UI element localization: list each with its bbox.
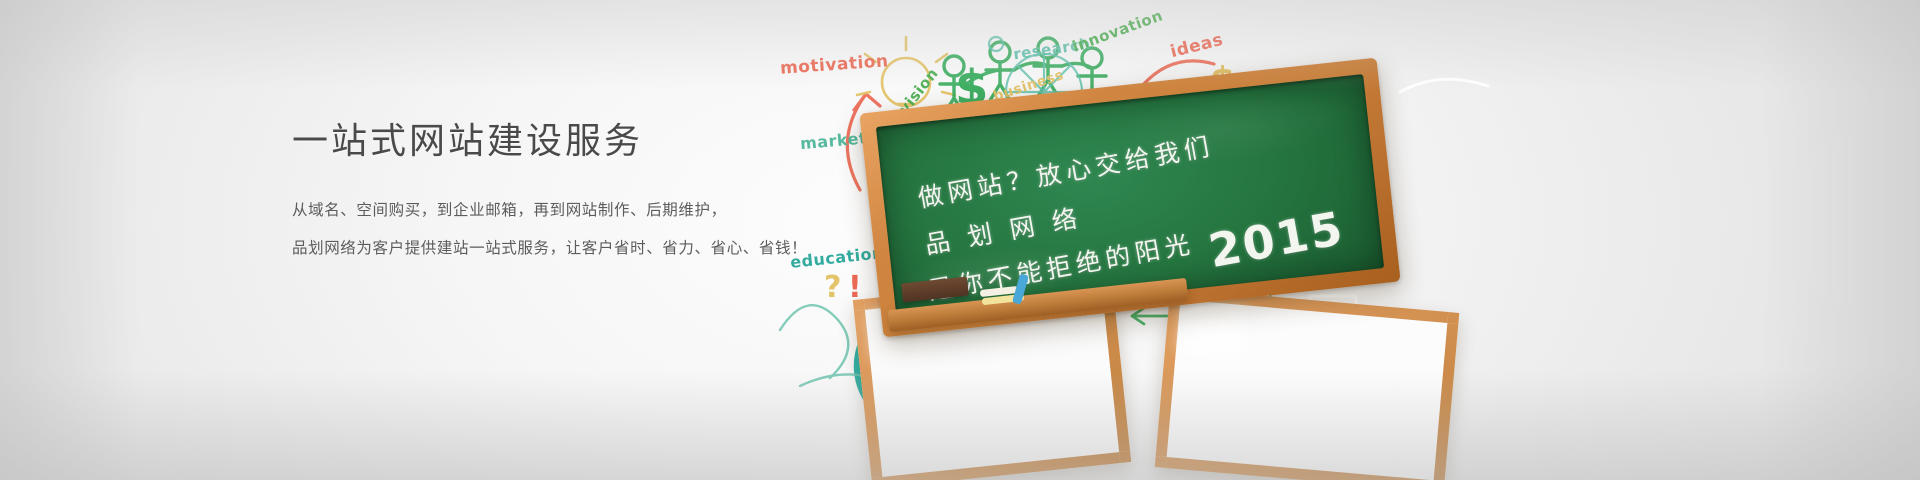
chalk-year: 2015 <box>1205 201 1348 278</box>
chalk-line-1: 做网站？放心交给我们 <box>915 127 1217 216</box>
banner-copy: 一站式网站建设服务 从域名、空间购买，到企业邮箱，再到网站制作、后期维护， 品划… <box>292 118 852 256</box>
chalk-line-2: 品 划 网 络 <box>922 198 1085 262</box>
doodle-symbol-question: ? <box>824 270 841 305</box>
promo-banner: 一站式网站建设服务 从域名、空间购买，到企业邮箱，再到网站制作、后期维护， 品划… <box>0 0 1920 480</box>
whiteboard-sheet-right <box>1155 288 1460 480</box>
banner-subline-2: 品划网络为客户提供建站一站式服务，让客户省时、省力、省心、省钱！ <box>292 241 852 257</box>
sheet-highlight <box>1180 304 1244 355</box>
page-title: 一站式网站建设服务 <box>292 118 852 163</box>
banner-subline-1: 从域名、空间购买，到企业邮箱，再到网站制作、后期维护， <box>292 203 852 219</box>
doodle-illustration: motivationmarketingvisionbusinessresearc… <box>770 0 1920 480</box>
